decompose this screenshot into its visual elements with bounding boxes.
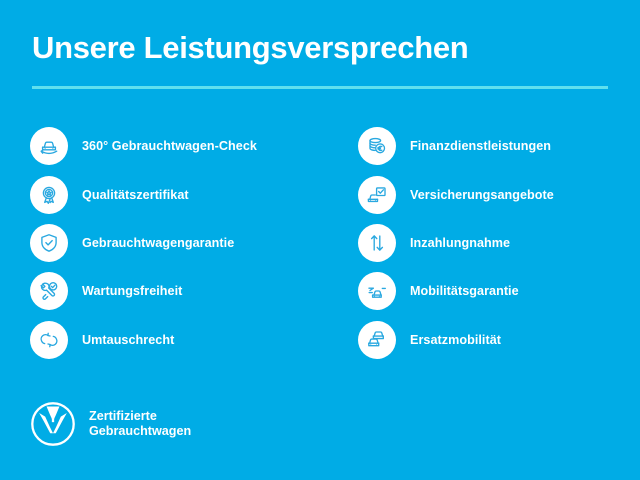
- feature-item-gebrauchtwagen-check[interactable]: 360° Gebrauchtwagen-Check: [30, 122, 320, 170]
- feature-item-inzahlungnahme[interactable]: Inzahlungnahme: [358, 219, 640, 267]
- feature-label: Mobilitätsgarantie: [410, 284, 519, 298]
- footer-brand-text: Zertifizierte Gebrauchtwagen: [89, 409, 191, 440]
- feature-item-wartungsfreiheit[interactable]: Wartungsfreiheit: [30, 267, 320, 315]
- two-cars-icon: [358, 321, 396, 359]
- feature-label: Inzahlungnahme: [410, 236, 510, 250]
- car-document-check-icon: [358, 176, 396, 214]
- quality-seal-icon: [30, 176, 68, 214]
- promise-panel: Unsere Leistungsversprechen 360° Gebrauc…: [0, 0, 640, 480]
- page-title: Unsere Leistungsversprechen: [32, 29, 468, 67]
- title-divider: [32, 86, 608, 89]
- wrench-check-icon: [30, 272, 68, 310]
- footer-line-2: Gebrauchtwagen: [89, 424, 191, 438]
- volkswagen-logo-icon: [30, 401, 76, 447]
- feature-label: 360° Gebrauchtwagen-Check: [82, 139, 257, 153]
- feature-item-gebrauchtwagengarantie[interactable]: Gebrauchtwagengarantie: [30, 219, 320, 267]
- swap-arrows-icon: [30, 321, 68, 359]
- feature-item-versicherungsangebote[interactable]: Versicherungsangebote: [358, 170, 640, 218]
- coins-euro-icon: [358, 127, 396, 165]
- feature-label: Versicherungsangebote: [410, 188, 554, 202]
- feature-label: Gebrauchtwagengarantie: [82, 236, 234, 250]
- tow-truck-icon: [358, 272, 396, 310]
- feature-label: Umtauschrecht: [82, 333, 174, 347]
- feature-label: Wartungsfreiheit: [82, 284, 182, 298]
- feature-label: Finanzdienstleistungen: [410, 139, 551, 153]
- feature-label: Ersatzmobilität: [410, 333, 501, 347]
- feature-column-left: 360° Gebrauchtwagen-Check Qualitätszerti…: [30, 122, 320, 364]
- car-360-check-icon: [30, 127, 68, 165]
- feature-item-finanzdienstleistungen[interactable]: Finanzdienstleistungen: [358, 122, 640, 170]
- feature-column-right: Finanzdienstleistungen Versicherungsange…: [358, 122, 640, 364]
- feature-item-ersatzmobilitaet[interactable]: Ersatzmobilität: [358, 316, 640, 364]
- up-down-arrows-icon: [358, 224, 396, 262]
- feature-label: Qualitätszertifikat: [82, 188, 189, 202]
- feature-item-mobilitaetsgarantie[interactable]: Mobilitätsgarantie: [358, 267, 640, 315]
- shield-check-icon: [30, 224, 68, 262]
- footer-brand: Zertifizierte Gebrauchtwagen: [30, 401, 191, 447]
- feature-item-qualitaetszertifikat[interactable]: Qualitätszertifikat: [30, 170, 320, 218]
- feature-item-umtauschrecht[interactable]: Umtauschrecht: [30, 316, 320, 364]
- footer-line-1: Zertifizierte: [89, 409, 157, 423]
